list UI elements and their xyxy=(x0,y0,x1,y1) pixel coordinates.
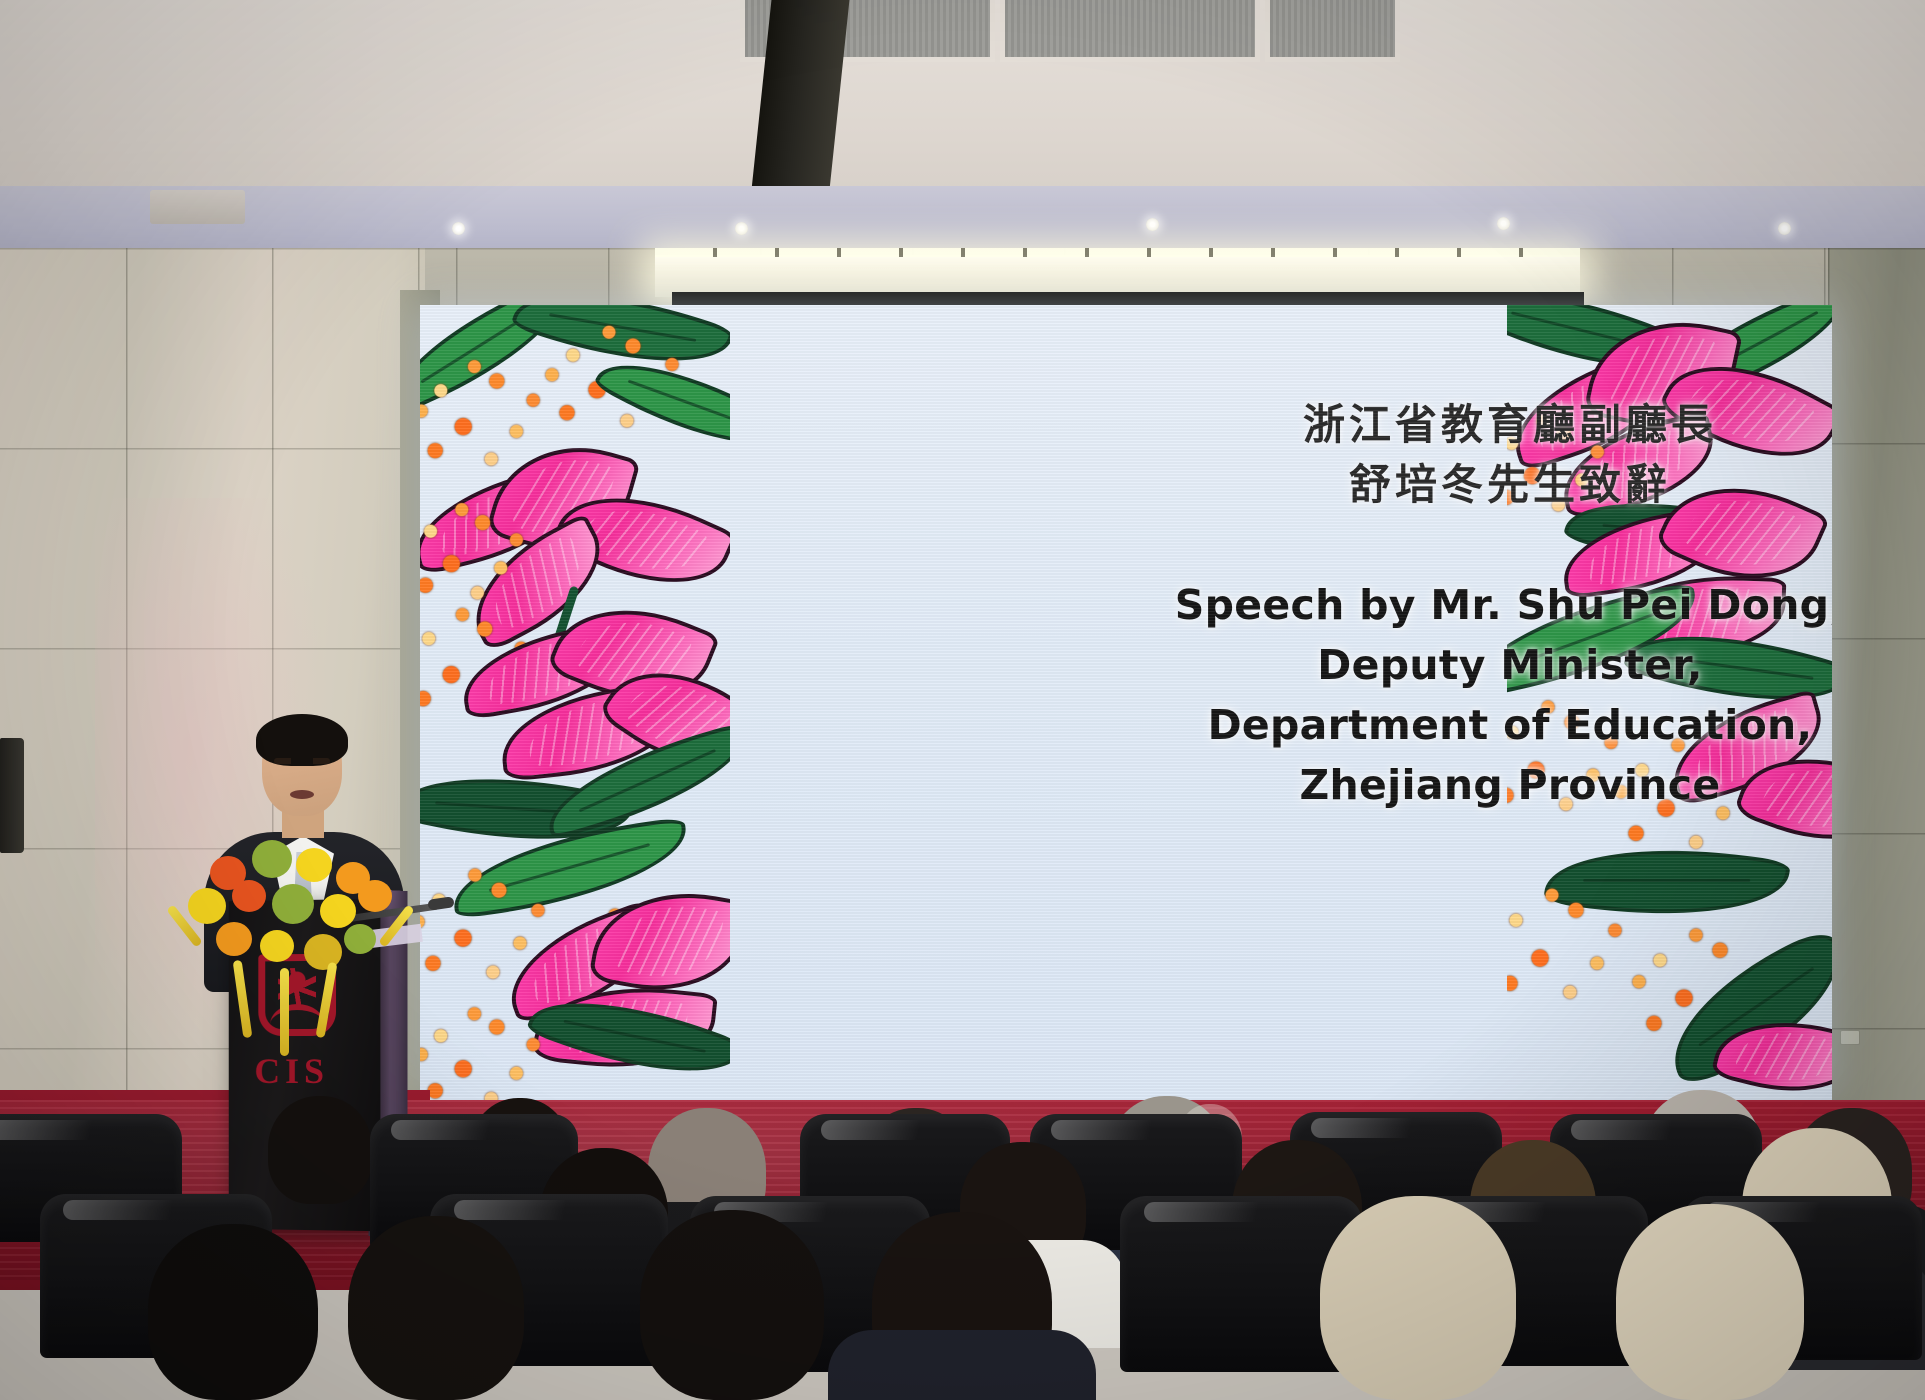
slide-chinese-line-1: 浙江省教育廳副廳長 xyxy=(1120,395,1832,455)
slide-english-line-2: Deputy Minister, xyxy=(1120,636,1832,696)
speaker-eyes xyxy=(274,758,330,764)
ceiling-soffit xyxy=(0,186,1925,256)
flower-blossom xyxy=(296,848,332,882)
floral-border-left xyxy=(420,305,730,1100)
flower-spray xyxy=(378,904,415,947)
speaker-mouth xyxy=(290,790,314,799)
flower-blossom xyxy=(272,884,314,924)
ceiling-vent-panel xyxy=(1265,0,1400,62)
person-head xyxy=(1320,1196,1516,1400)
led-display-screen[interactable]: 浙江省教育廳副廳長 舒培冬先生致辭 Speech by Mr. Shu Pei … xyxy=(420,305,1832,1100)
person-body xyxy=(828,1330,1096,1400)
flower-spray xyxy=(315,962,337,1038)
conference-hall-photo: 浙江省教育廳副廳長 舒培冬先生致辭 Speech by Mr. Shu Pei … xyxy=(0,0,1925,1400)
flower-blossom xyxy=(344,924,376,954)
downlight-icon xyxy=(1778,222,1791,235)
audience-seating xyxy=(0,1040,1925,1400)
person-head xyxy=(348,1216,524,1400)
flower-blossom xyxy=(260,930,294,962)
person-head xyxy=(148,1224,318,1400)
podium-flower-arrangement xyxy=(160,818,425,1058)
wall-speaker-icon xyxy=(0,738,24,853)
flower-blossom xyxy=(320,894,356,928)
slide-chinese-line-2: 舒培冬先生致辭 xyxy=(1120,455,1832,515)
flower-blossom xyxy=(358,880,392,912)
flower-blossom xyxy=(216,922,252,956)
flower-spray xyxy=(233,960,253,1038)
recessed-ceiling-fixture xyxy=(150,190,245,224)
person-head xyxy=(1616,1204,1804,1400)
osmanthus-cluster xyxy=(420,501,532,609)
slide-text-block: 浙江省教育廳副廳長 舒培冬先生致辭 Speech by Mr. Shu Pei … xyxy=(1120,395,1832,816)
flower-blossom xyxy=(232,880,266,912)
person-head xyxy=(640,1210,824,1400)
downlight-icon xyxy=(1497,217,1510,230)
osmanthus-cluster xyxy=(1507,885,1633,1011)
downlight-icon xyxy=(452,222,465,235)
slide-english-line-3: Department of Education, xyxy=(1120,696,1832,756)
slide-english-block: Speech by Mr. Shu Pei Dong, Deputy Minis… xyxy=(1120,576,1832,815)
slide-english-line-1: Speech by Mr. Shu Pei Dong, xyxy=(1120,576,1832,636)
person-head xyxy=(268,1096,372,1204)
flower-blossom xyxy=(188,888,226,924)
downlight-icon xyxy=(735,222,748,235)
flower-blossom xyxy=(252,840,292,878)
downlight-icon xyxy=(1146,218,1159,231)
ceiling-vent-panel xyxy=(1000,0,1260,62)
illuminated-valance xyxy=(655,255,1580,297)
slide-english-line-4: Zhejiang Province xyxy=(1120,756,1832,816)
